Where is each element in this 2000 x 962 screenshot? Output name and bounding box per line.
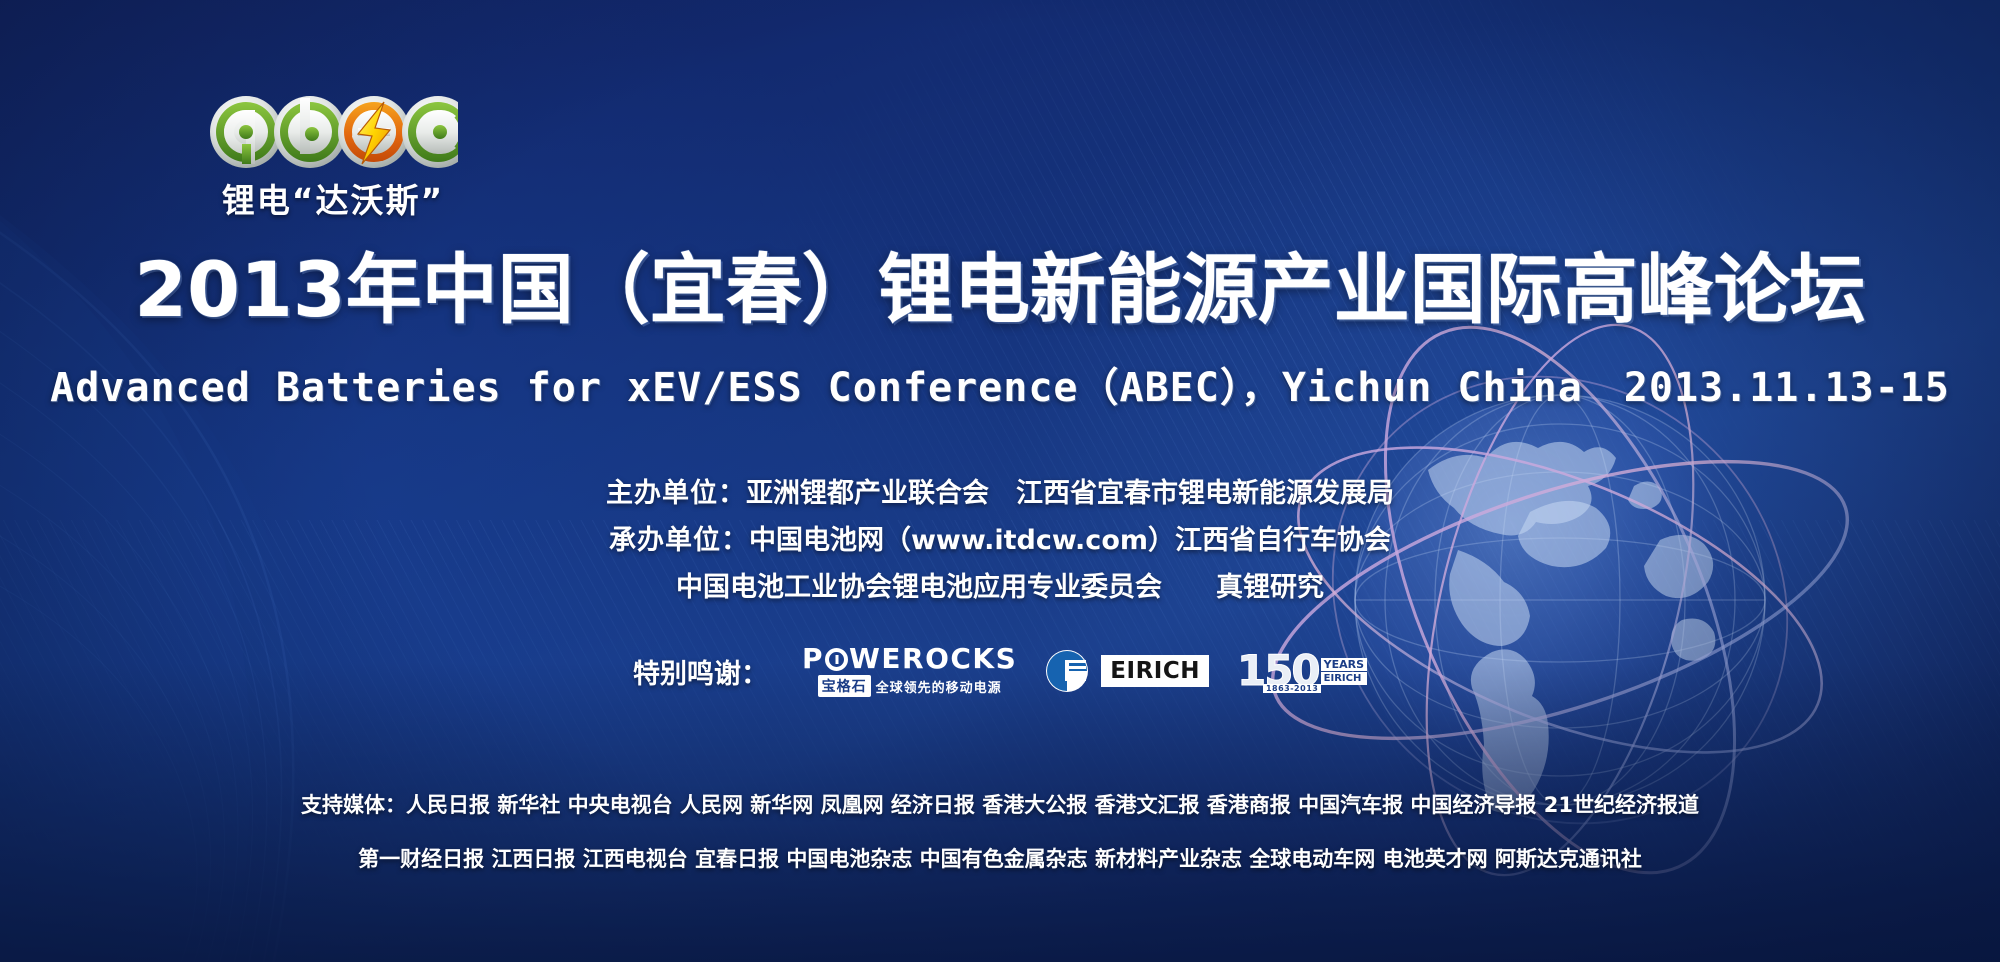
media-list-2: 第一财经日报 江西日报 江西电视台 宜春日报 中国电池杂志 中国有色金属杂志 新… [358,847,1642,871]
organizer-row: 承办单位：中国电池网（www.itdcw.com）江西省自行车协会 [0,517,2000,564]
sponsors-label: 特别鸣谢： [633,652,768,691]
media-list-1: 人民日报 新华社 中央电视台 人民网 新华网 凤凰网 经济日报 香港大公报 香港… [406,793,1699,817]
logo-letter-a [210,96,282,168]
anniversary-labels: YEARS EIRICH [1321,658,1367,685]
organizer-label: 主办单位： [606,478,746,509]
organizer-value: 中国电池工业协会锂电池应用专业委员会 真锂研究 [676,572,1324,603]
eirich-circle-icon [1045,649,1089,693]
abec-logo: 锂电“达沃斯” [208,96,458,222]
powerocks-subline: 宝格石 全球领先的移动电源 [818,675,1002,697]
powerocks-wordmark: P WEROCKS [802,645,1017,673]
sponsor-logo-powerocks: P WEROCKS 宝格石 全球领先的移动电源 [802,645,1017,697]
media-label: 支持媒体： [301,793,406,817]
abec-logo-mark [208,96,458,168]
anniversary-dates: 1863-2013 [1263,684,1321,693]
organizer-row: 主办单位：亚洲锂都产业联合会 江西省宜春市锂电新能源发展局 [0,470,2000,517]
powerocks-o-icon [825,648,848,671]
sponsor-logo-eirich-150: 150 YEARS EIRICH 1863-2013 [1237,650,1367,692]
powerocks-word-end: WEROCKS [849,645,1017,673]
organizer-value: 亚洲锂都产业联合会 江西省宜春市锂电新能源发展局 [746,478,1394,509]
eirich-wordmark: EIRICH [1101,655,1209,687]
logo-letter-c [402,96,458,168]
page-title: 2013年中国（宜春）锂电新能源产业国际高峰论坛 [0,252,2000,328]
conference-banner: 锂电“达沃斯” 2013年中国（宜春）锂电新能源产业国际高峰论坛 Advance… [0,0,2000,962]
sponsor-logo-eirich: EIRICH [1045,649,1209,693]
anniversary-years-label: YEARS [1321,658,1367,671]
logo-letter-e [338,96,410,168]
abec-logo-subtitle: 锂电“达沃斯” [208,174,458,222]
organizer-value: 中国电池网（www.itdcw.com）江西省自行车协会 [749,525,1391,556]
media-row-2: 第一财经日报 江西日报 江西电视台 宜春日报 中国电池杂志 中国有色金属杂志 新… [0,832,2000,886]
media-row-1: 支持媒体：人民日报 新华社 中央电视台 人民网 新华网 凤凰网 经济日报 香港大… [0,778,2000,832]
anniversary-brand-label: EIRICH [1321,672,1367,685]
abec-letters-icon [208,94,458,170]
powerocks-tagline: 全球领先的移动电源 [876,677,1002,696]
organizer-label: 承办单位： [609,525,749,556]
media-block: 支持媒体：人民日报 新华社 中央电视台 人民网 新华网 凤凰网 经济日报 香港大… [0,778,2000,886]
page-subtitle: Advanced Batteries for xEV/ESS Conferenc… [0,355,2000,413]
powerocks-cn-name: 宝格石 [818,675,871,697]
sponsors-block: 特别鸣谢： P WEROCKS 宝格石 全球领先的移动电源 [0,645,2000,697]
organizer-row: 中国电池工业协会锂电池应用专业委员会 真锂研究 [0,564,2000,611]
organizers-block: 主办单位：亚洲锂都产业联合会 江西省宜春市锂电新能源发展局 承办单位：中国电池网… [0,470,2000,611]
logo-letter-b [274,96,346,168]
powerocks-word-start: P [802,645,824,673]
